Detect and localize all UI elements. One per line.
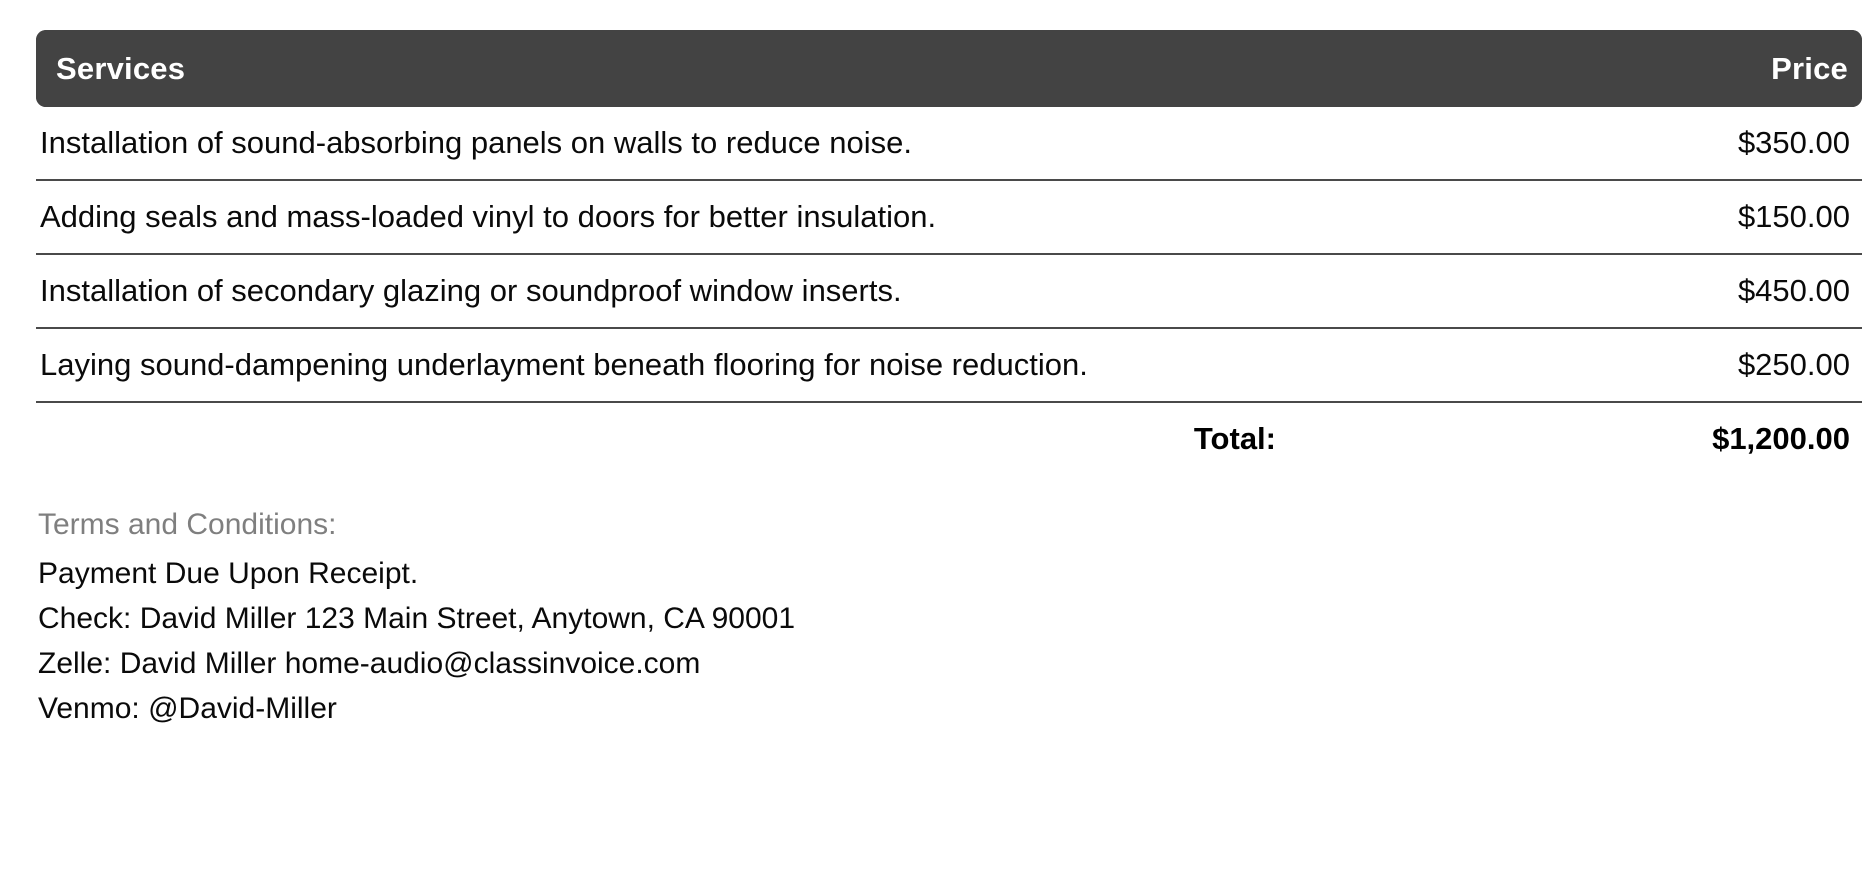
table-header: Services Price bbox=[36, 30, 1862, 107]
table-row: Adding seals and mass-loaded vinyl to do… bbox=[36, 180, 1862, 254]
service-description: Installation of secondary glazing or sou… bbox=[36, 254, 1346, 328]
terms-line-payment-due: Payment Due Upon Receipt. bbox=[38, 551, 1830, 596]
service-price: $150.00 bbox=[1346, 180, 1862, 254]
table-row: Installation of sound-absorbing panels o… bbox=[36, 107, 1862, 180]
column-header-price: Price bbox=[1346, 30, 1862, 107]
service-price: $450.00 bbox=[1346, 254, 1862, 328]
service-price: $250.00 bbox=[1346, 328, 1862, 402]
service-price: $350.00 bbox=[1346, 107, 1862, 180]
service-description: Adding seals and mass-loaded vinyl to do… bbox=[36, 180, 1346, 254]
invoice-page: Services Price Installation of sound-abs… bbox=[0, 0, 1868, 870]
total-value: $1,200.00 bbox=[1346, 402, 1862, 475]
terms-and-conditions-section: Terms and Conditions: Payment Due Upon R… bbox=[36, 503, 1830, 731]
total-label: Total: bbox=[36, 402, 1346, 475]
table-row: Installation of secondary glazing or sou… bbox=[36, 254, 1862, 328]
services-table: Services Price Installation of sound-abs… bbox=[36, 30, 1862, 475]
service-description: Installation of sound-absorbing panels o… bbox=[36, 107, 1346, 180]
table-header-row: Services Price bbox=[36, 30, 1862, 107]
terms-line-venmo: Venmo: @David-Miller bbox=[38, 686, 1830, 731]
total-row: Total: $1,200.00 bbox=[36, 402, 1862, 475]
column-header-services: Services bbox=[36, 30, 1346, 107]
terms-line-zelle: Zelle: David Miller home-audio@classinvo… bbox=[38, 641, 1830, 686]
service-description: Laying sound-dampening underlayment bene… bbox=[36, 328, 1346, 402]
table-body: Installation of sound-absorbing panels o… bbox=[36, 107, 1862, 475]
terms-line-check: Check: David Miller 123 Main Street, Any… bbox=[38, 596, 1830, 641]
table-row: Laying sound-dampening underlayment bene… bbox=[36, 328, 1862, 402]
terms-title: Terms and Conditions: bbox=[38, 503, 1830, 547]
